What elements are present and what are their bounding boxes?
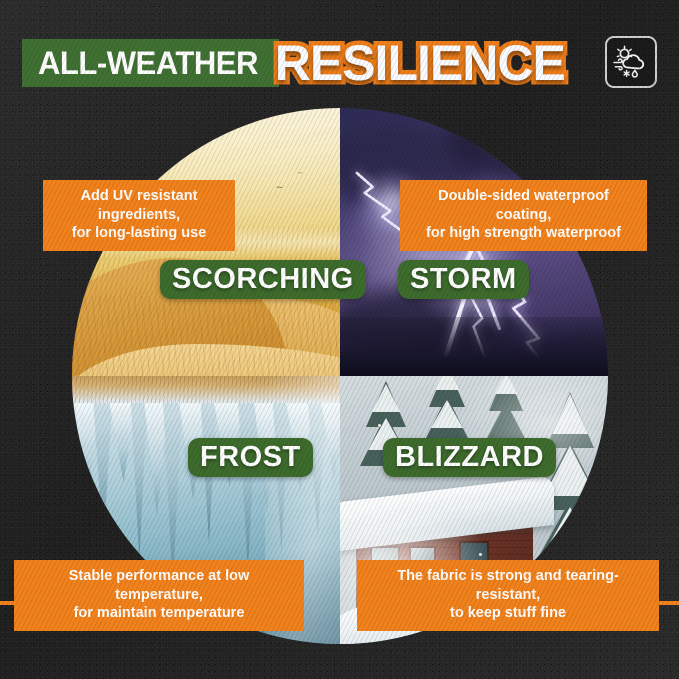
label-storm: STORM <box>398 260 529 299</box>
caption-blizzard: The fabric is strong and tearing-resista… <box>357 560 659 631</box>
caption-frost: Stable performance at low temperature, f… <box>14 560 304 631</box>
bird-icon: ∼ <box>297 170 303 177</box>
label-scorching: SCORCHING <box>160 260 366 299</box>
icicle <box>93 403 112 548</box>
header-banner: ALL-WEATHER RESILIENCE <box>22 33 657 93</box>
sun-cloud-rain-snow-wind-icon <box>612 45 650 79</box>
caption-storm: Double-sided waterproof coating, for hig… <box>400 180 647 251</box>
title-green-bar: ALL-WEATHER <box>22 39 279 87</box>
title-orange-word: RESILIENCE <box>275 38 565 88</box>
page-title-part1: ALL-WEATHER <box>38 47 258 79</box>
snowflake <box>378 424 381 427</box>
poster-root: ALL-WEATHER RESILIENCE <box>0 0 679 679</box>
icicle <box>131 403 147 561</box>
sand-ripples <box>72 296 340 376</box>
weather-badge <box>605 36 657 88</box>
bird-icon: ∼ <box>276 183 284 192</box>
label-frost: FROST <box>188 438 313 477</box>
storm-horizon <box>340 317 608 376</box>
label-blizzard: BLIZZARD <box>383 438 556 477</box>
page-title-part2: RESILIENCE <box>275 35 565 91</box>
caption-scorching: Add UV resistant ingredients, for long-l… <box>43 180 235 251</box>
icicle <box>238 403 257 570</box>
